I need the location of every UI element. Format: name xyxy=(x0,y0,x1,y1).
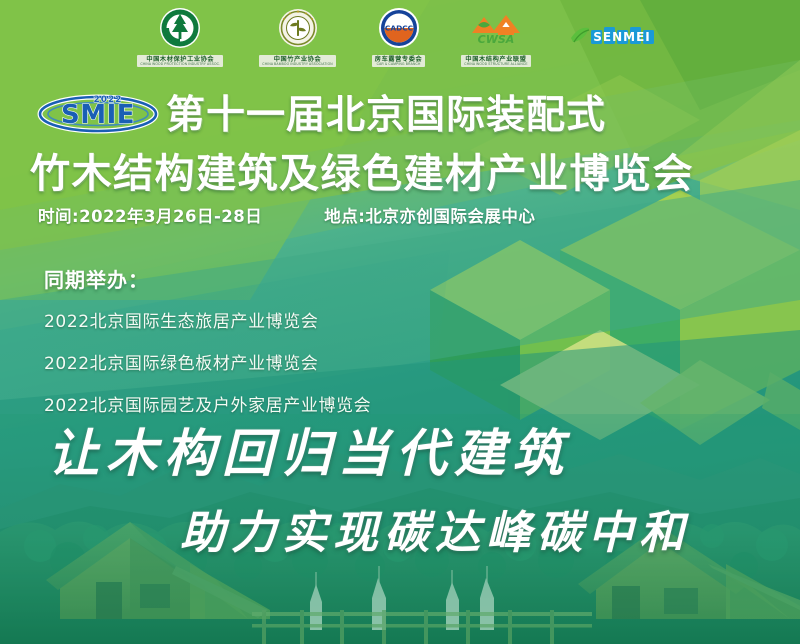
sponsor-name-cadcc: 房车露营专委会 CAR & CAMPING BRANCH xyxy=(372,55,426,68)
heading-block: SMIE 2022 第十一届北京国际装配式 竹木结构建筑及绿色建材产业博览会 xyxy=(0,86,800,199)
concurrent-event-2: 2022北京国际绿色板材产业博览会 xyxy=(44,349,371,374)
slogan-line-2: 助力实现碳达峰碳中和 xyxy=(0,496,800,561)
slogan-block: 让木构回归当代建筑 助力实现碳达峰碳中和 xyxy=(0,412,800,561)
svg-text:2022: 2022 xyxy=(93,95,122,105)
concurrent-heading: 同期举办： xyxy=(44,264,371,293)
sponsor-logo-senmei: SENMEI xyxy=(567,20,663,55)
title-row-1: SMIE 2022 第十一届北京国际装配式 xyxy=(0,86,800,138)
event-info-row: 时间:2022年3月26日-28日 地点:北京亦创国际会展中心 xyxy=(38,203,535,227)
bamboo-oval-seal-icon xyxy=(277,7,319,54)
sponsor-logo-cnwpia: 中国木材保护工业协会 CHINA WOOD PROTECTION INDUSTR… xyxy=(137,7,223,68)
event-venue: 地点:北京亦创国际会展中心 xyxy=(324,203,535,227)
slogan-line-1: 让木构回归当代建筑 xyxy=(0,412,800,486)
sponsor-name-bamboo: 中国竹产业协会 CHINA BAMBOO INDUSTRY ASSOCIATIO… xyxy=(259,55,336,68)
concurrent-events-block: 同期举办： 2022北京国际生态旅居产业博览会 2022北京国际绿色板材产业博览… xyxy=(44,264,371,433)
concurrent-event-1: 2022北京国际生态旅居产业博览会 xyxy=(44,307,371,332)
pine-tree-roundel-icon xyxy=(159,7,201,54)
svg-text:CADCC: CADCC xyxy=(384,23,412,32)
cadcc-roundel-icon: CADCC xyxy=(378,7,420,54)
sponsor-logo-cwsa: CWSA 中国木结构产业联盟 CHINA WOOD STRUCTURE ALLI… xyxy=(461,7,530,68)
svg-text:SENMEI: SENMEI xyxy=(593,30,651,44)
sponsor-name-cwsa: 中国木结构产业联盟 CHINA WOOD STRUCTURE ALLIANCE xyxy=(461,55,530,68)
sponsor-logo-bamboo: 中国竹产业协会 CHINA BAMBOO INDUSTRY ASSOCIATIO… xyxy=(259,7,336,68)
svg-text:CWSA: CWSA xyxy=(478,33,515,46)
sponsor-logo-strip: 中国木材保护工业协会 CHINA WOOD PROTECTION INDUSTR… xyxy=(0,8,800,66)
expo-poster: 中国木材保护工业协会 CHINA WOOD PROTECTION INDUSTR… xyxy=(0,0,800,644)
sponsor-logo-cadcc: CADCC 房车露营专委会 CAR & CAMPING BRANCH xyxy=(372,7,426,68)
page-title-line-1: 第十一届北京国际装配式 xyxy=(166,84,606,140)
smie-brand-logo: SMIE 2022 xyxy=(36,90,160,134)
page-title-line-2: 竹木结构建筑及绿色建材产业博览会 xyxy=(0,141,800,199)
cwsa-house-icon: CWSA xyxy=(468,7,524,54)
event-date: 时间:2022年3月26日-28日 xyxy=(38,203,262,227)
sponsor-name-cnwpia: 中国木材保护工业协会 CHINA WOOD PROTECTION INDUSTR… xyxy=(137,55,223,68)
senmei-leaf-icon: SENMEI xyxy=(567,20,663,55)
